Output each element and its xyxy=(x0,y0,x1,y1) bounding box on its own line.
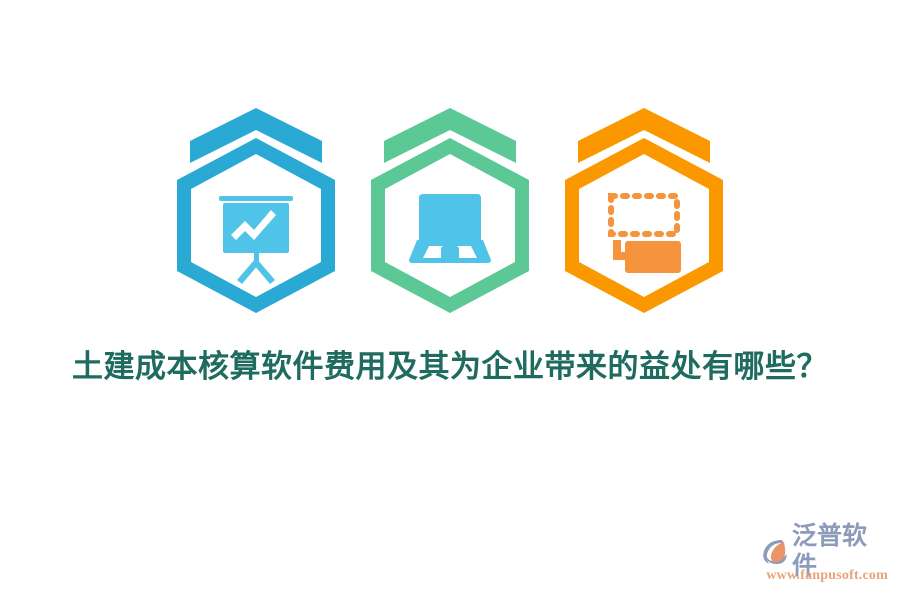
page-title: 土建成本核算软件费用及其为企业带来的益处有哪些？ xyxy=(0,345,900,389)
badge-laptop[interactable] xyxy=(353,108,547,313)
poster-canvas: 土建成本核算软件费用及其为企业带来的益处有哪些？ 泛普软件 www.fanpus… xyxy=(0,0,900,600)
badge-icon-row xyxy=(0,108,900,313)
brand-logo-row: 泛普软件 xyxy=(758,536,890,568)
badge-select-copy[interactable] xyxy=(547,108,741,313)
select-copy-icon xyxy=(547,108,741,313)
laptop-icon xyxy=(353,108,547,313)
brand-logo[interactable]: 泛普软件 www.fanpusoft.com xyxy=(758,536,890,588)
brand-url: www.fanpusoft.com xyxy=(758,568,890,584)
fanpu-logo-mark-icon xyxy=(760,537,790,567)
badge-presentation-chart[interactable] xyxy=(159,108,353,313)
presentation-chart-icon xyxy=(159,108,353,313)
